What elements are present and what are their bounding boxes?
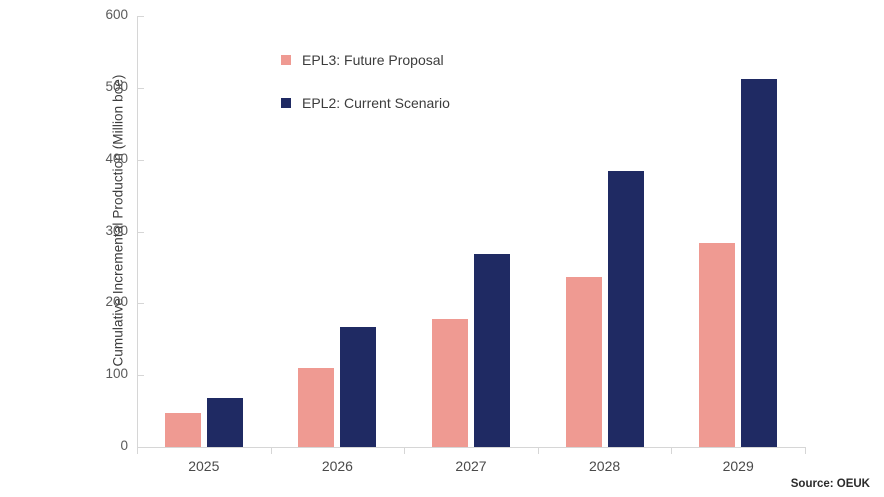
bar-chart: Cumulative Incremental Production (Milli… (0, 0, 884, 497)
y-tick-label: 200 (86, 294, 128, 309)
bar-2026-series-2[interactable] (340, 327, 376, 447)
x-tick-mark (671, 447, 672, 454)
x-axis-label-2028: 2028 (538, 458, 672, 474)
x-tick-mark (404, 447, 405, 454)
x-axis-label-2026: 2026 (270, 458, 404, 474)
bar-2028-series-2[interactable] (608, 171, 644, 447)
legend-swatch-icon (281, 55, 291, 65)
legend-label: EPL2: Current Scenario (302, 95, 450, 111)
y-tick-label: 0 (86, 438, 128, 453)
bar-2026-series-1[interactable] (298, 368, 334, 447)
x-axis-label-2027: 2027 (404, 458, 538, 474)
legend-item-2[interactable]: EPL2: Current Scenario (281, 93, 450, 113)
legend-swatch-icon (281, 98, 291, 108)
bar-2028-series-1[interactable] (566, 277, 602, 447)
y-tick-label: 600 (86, 7, 128, 22)
bar-2027-series-2[interactable] (474, 254, 510, 447)
legend-label: EPL3: Future Proposal (302, 52, 444, 68)
source-note: Source: OEUK (791, 478, 870, 490)
x-tick-mark (137, 447, 138, 454)
chart-legend: EPL3: Future ProposalEPL2: Current Scena… (281, 50, 450, 136)
x-tick-mark (805, 447, 806, 454)
y-tick-mark (137, 447, 144, 448)
y-tick-label: 400 (86, 151, 128, 166)
x-axis-label-2029: 2029 (671, 458, 805, 474)
y-tick-label: 300 (86, 223, 128, 238)
bar-2025-series-1[interactable] (165, 413, 201, 447)
x-tick-mark (538, 447, 539, 454)
bar-2029-series-2[interactable] (741, 79, 777, 448)
x-axis-label-2025: 2025 (137, 458, 271, 474)
bar-2029-series-1[interactable] (699, 243, 735, 447)
bar-2027-series-1[interactable] (432, 319, 468, 447)
y-tick-label: 100 (86, 366, 128, 381)
bar-2025-series-2[interactable] (207, 398, 243, 447)
y-tick-label: 500 (86, 79, 128, 94)
x-axis-spine (137, 447, 805, 448)
bars-layer (137, 16, 805, 447)
x-tick-mark (271, 447, 272, 454)
legend-item-1[interactable]: EPL3: Future Proposal (281, 50, 450, 70)
